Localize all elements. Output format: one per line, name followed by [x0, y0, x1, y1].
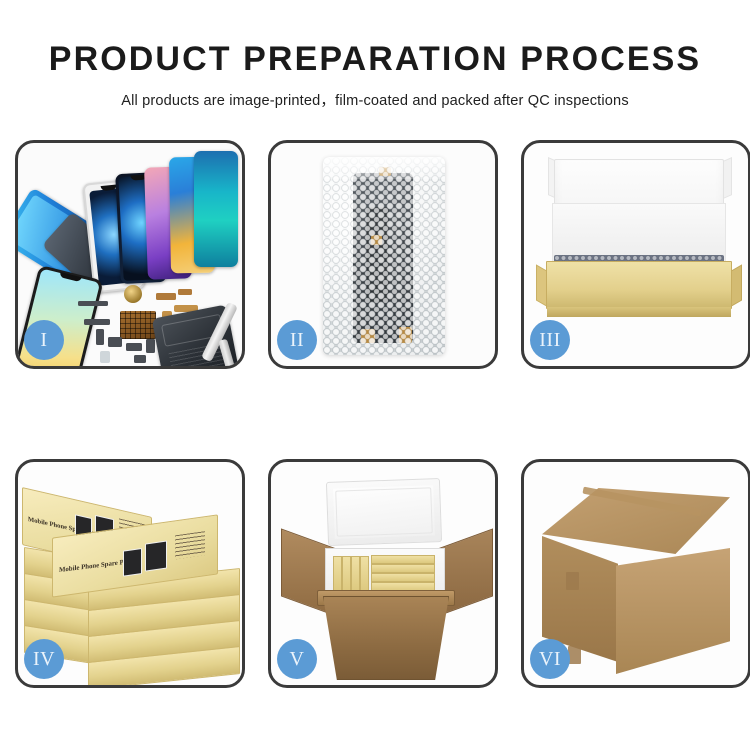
yellow-box-item	[371, 564, 435, 573]
yellow-boxes-inside	[333, 552, 435, 592]
process-step-panel-2: II	[268, 140, 498, 369]
white-foam-sheet-icon	[552, 203, 726, 263]
header: PRODUCT PREPARATION PROCESS All products…	[0, 0, 750, 110]
product-window-icon	[123, 548, 142, 577]
page-subtitle: All products are image-printed，film-coat…	[0, 78, 750, 110]
label-text-lines-icon	[175, 531, 205, 559]
yellow-box-item	[351, 556, 360, 592]
tape-strip-icon	[568, 646, 581, 664]
notch-icon	[59, 272, 82, 282]
product-window-icon	[145, 541, 167, 572]
process-step-panel-4: Mobile Phone Spare Parts Mobile Phone Sp…	[15, 459, 245, 688]
logic-board-chip-icon	[120, 311, 156, 339]
part-strip-icon	[78, 301, 108, 306]
page-title: PRODUCT PREPARATION PROCESS	[0, 0, 750, 78]
speaker-icon	[108, 337, 122, 347]
yellow-box-item	[360, 556, 369, 592]
process-step-panel-5: V	[268, 459, 498, 688]
carton-right-face-icon	[616, 548, 730, 674]
step-badge-1: I	[24, 320, 64, 360]
screw-bracket-icon	[96, 329, 104, 345]
step-badge-2: II	[277, 320, 317, 360]
yellow-box-item	[371, 555, 435, 564]
foam-box-lid-icon	[326, 478, 442, 546]
teal-gradient-screen-icon	[194, 151, 238, 267]
sim-tray-icon	[146, 339, 155, 353]
battery-connector-icon	[100, 351, 110, 363]
step-badge-3: III	[530, 320, 570, 360]
step-badge-4: IV	[24, 639, 64, 679]
bracket-icon	[84, 319, 110, 325]
yellow-box-item	[371, 573, 435, 582]
camera-module-icon	[124, 285, 142, 303]
carton-body-icon	[323, 596, 449, 680]
vibrator-icon	[126, 343, 142, 351]
step-badge-6: VI	[530, 639, 570, 679]
yellow-box-item	[342, 556, 351, 592]
flex-cable-icon	[156, 293, 176, 300]
yellow-box-body-icon	[546, 261, 732, 309]
process-step-panel-1: I	[15, 140, 245, 369]
bag-seal-icon	[323, 157, 445, 179]
flex-cable-icon	[178, 289, 192, 295]
product-preparation-process-infographic: PRODUCT PREPARATION PROCESS All products…	[0, 0, 750, 750]
tape-strip-icon	[566, 572, 579, 590]
process-step-panel-3: III	[521, 140, 750, 369]
small-part-icon	[134, 355, 146, 363]
process-step-panel-6: VI	[521, 459, 750, 688]
process-steps-grid: I II	[15, 140, 737, 693]
step-badge-5: V	[277, 639, 317, 679]
yellow-box-item	[333, 556, 342, 592]
bubble-wrap-bag-icon	[323, 157, 445, 355]
bubble-texture-icon	[323, 157, 445, 355]
